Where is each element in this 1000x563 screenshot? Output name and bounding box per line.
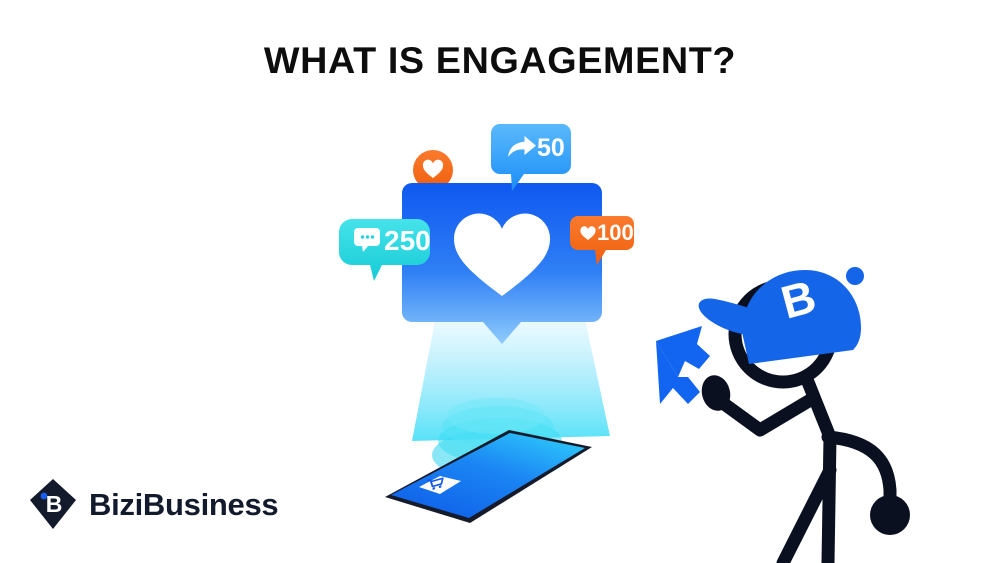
- logo-wordmark: BiziBusiness: [89, 489, 278, 520]
- slide-canvas: WHAT IS ENGAGEMENT?: [0, 0, 1000, 563]
- like-card[interactable]: [402, 183, 602, 344]
- logo-mark-letter: B: [46, 491, 63, 517]
- brand-logo[interactable]: B BiziBusiness: [28, 478, 278, 530]
- share-badge[interactable]: 50: [491, 124, 571, 191]
- logo-mark: B: [28, 478, 78, 530]
- comment-badge-value: 250: [384, 225, 431, 256]
- share-badge-value: 50: [537, 134, 565, 162]
- baseball-cap: B: [699, 267, 864, 364]
- hand-ball: [870, 495, 910, 535]
- smartphone: [385, 430, 592, 523]
- like-badge-value: 100: [597, 220, 634, 245]
